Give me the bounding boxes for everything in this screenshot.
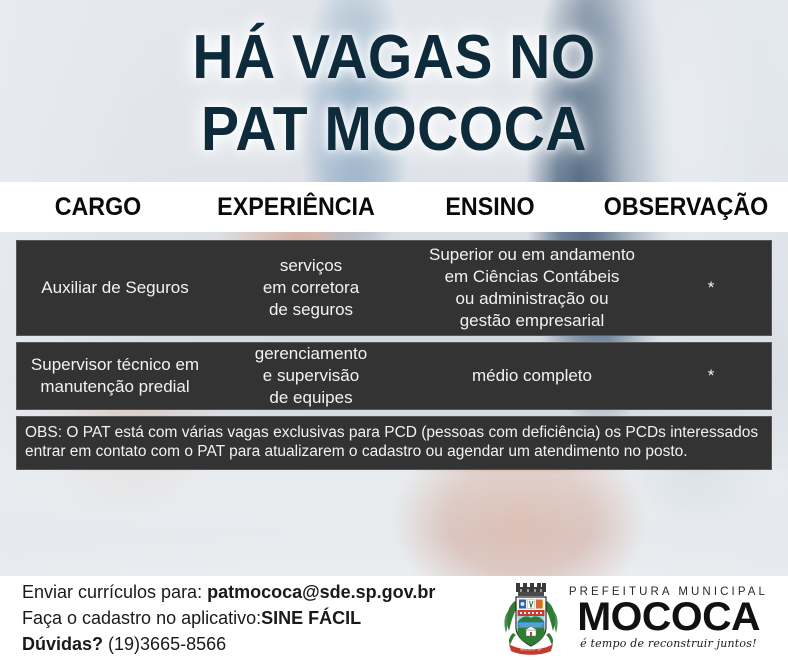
contact-email-label: Enviar currículos para: bbox=[22, 582, 207, 602]
footer-band: Enviar currículos para: patmococa@sde.sp… bbox=[0, 576, 788, 660]
title-line-1: HÁ VAGAS NO bbox=[32, 22, 757, 94]
contact-phone-value: (19)3665-8566 bbox=[103, 634, 226, 654]
cell-cargo: Supervisor técnico emmanutenção predial bbox=[17, 350, 213, 402]
contact-phone-label: Dúvidas? bbox=[22, 634, 103, 654]
cell-experiencia: gerenciamentoe supervisãode equipes bbox=[213, 339, 409, 413]
title-line-2: PAT MOCOCA bbox=[32, 94, 757, 166]
vacancy-table: Auxiliar de Seguros serviçosem corretora… bbox=[16, 240, 772, 470]
cell-ensino: médio completo bbox=[409, 361, 655, 391]
column-header-observacao: OBSERVAÇÃO bbox=[591, 193, 781, 222]
cell-experiencia: serviçosem corretorade seguros bbox=[213, 251, 409, 325]
vacancy-poster: HÁ VAGAS NO PAT MOCOCA CARGO EXPERIÊNCIA… bbox=[0, 0, 788, 660]
table-row: Auxiliar de Seguros serviçosem corretora… bbox=[16, 240, 772, 336]
logo-wordmark: PREFEITURA MUNICIPAL MOCOCA é tempo de r… bbox=[569, 586, 768, 650]
column-header-ensino: ENSINO bbox=[403, 193, 578, 222]
logo-city-name: MOCOCA bbox=[577, 598, 760, 636]
column-header-cargo: CARGO bbox=[7, 193, 189, 222]
prefeitura-logo: MOCOCA - SP PREFEITURA MUNICIPAL MOCOCA … bbox=[501, 581, 772, 655]
cell-ensino: Superior ou em andamentoem Ciências Cont… bbox=[409, 240, 655, 336]
contact-app-value: SINE FÁCIL bbox=[261, 608, 361, 628]
cell-cargo: Auxiliar de Seguros bbox=[17, 273, 213, 303]
table-row: Supervisor técnico emmanutenção predial … bbox=[16, 342, 772, 410]
column-header-experiencia: EXPERIÊNCIA bbox=[203, 193, 389, 222]
mococa-coat-of-arms-icon: MOCOCA - SP bbox=[501, 581, 561, 655]
poster-title: HÁ VAGAS NO PAT MOCOCA bbox=[0, 22, 788, 166]
contact-email-line: Enviar currículos para: patmococa@sde.sp… bbox=[22, 579, 435, 605]
contact-phone-line: Dúvidas? (19)3665-8566 bbox=[22, 631, 435, 657]
contact-email-value: patmococa@sde.sp.gov.br bbox=[207, 582, 435, 602]
table-note: OBS: O PAT está com várias vagas exclusi… bbox=[16, 416, 772, 470]
contact-app-label: Faça o cadastro no aplicativo: bbox=[22, 608, 261, 628]
contact-app-line: Faça o cadastro no aplicativo:SINE FÁCIL bbox=[22, 605, 435, 631]
svg-text:MOCOCA - SP: MOCOCA - SP bbox=[520, 648, 541, 652]
cell-observacao: * bbox=[655, 273, 767, 303]
contact-info: Enviar currículos para: patmococa@sde.sp… bbox=[22, 579, 435, 657]
cell-observacao: * bbox=[655, 361, 767, 391]
table-header-band: CARGO EXPERIÊNCIA ENSINO OBSERVAÇÃO bbox=[0, 182, 788, 232]
